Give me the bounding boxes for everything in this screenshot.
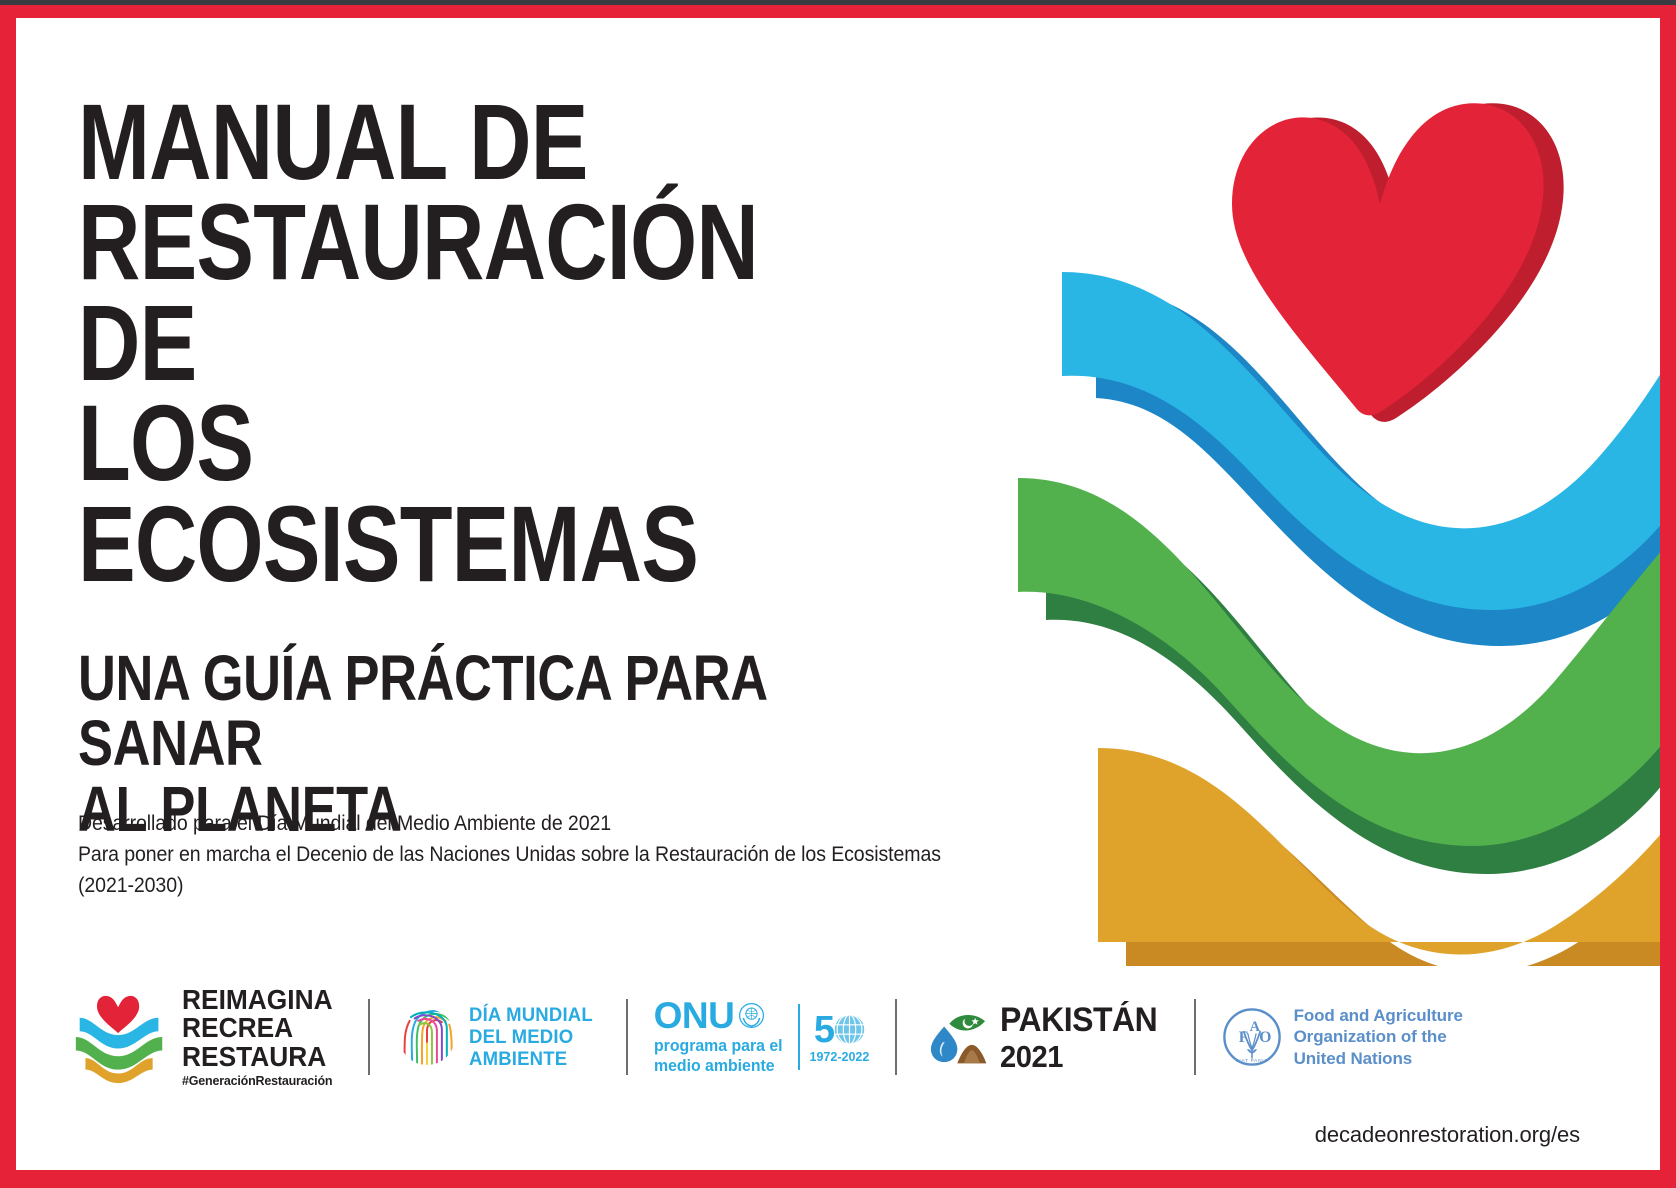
frame-border-bottom xyxy=(0,1170,1676,1188)
fao-line-2: Organization of the xyxy=(1294,1026,1463,1047)
anniversary-years: 1972-2022 xyxy=(810,1050,870,1064)
wed-line-1: DÍA MUNDIAL xyxy=(469,1004,593,1026)
frame-border-top xyxy=(0,4,1676,18)
rrr-mark-icon xyxy=(72,989,168,1085)
logo-divider-3 xyxy=(895,999,897,1075)
page-title: MANUAL DE RESTAURACIÓN DE LOS ECOSISTEMA… xyxy=(78,0,846,594)
website-url[interactable]: decadeonrestoration.org/es xyxy=(1315,1122,1580,1148)
frame-border-right xyxy=(1660,4,1676,1188)
logo-divider-2 xyxy=(626,999,628,1075)
logo-fao: F A O FIAT PANIS Food and Agriculture Or… xyxy=(1222,982,1463,1092)
page-subtitle: UNA GUÍA PRÁCTICA PARA SANAR AL PLANETA xyxy=(78,594,865,842)
logo-divider-4 xyxy=(1194,999,1196,1075)
cover-page: MANUAL DE RESTAURACIÓN DE LOS ECOSISTEMA… xyxy=(0,0,1676,1188)
unep-sub-line-1: programa para el xyxy=(654,1037,783,1057)
un-emblem-icon xyxy=(739,1003,764,1028)
rrr-line-1: REIMAGINA xyxy=(182,986,333,1015)
top-hairline xyxy=(0,0,1676,5)
rrr-hashtag: #GeneraciónRestauración xyxy=(182,1074,342,1088)
credits-block: Desarrollado para el Día Mundial del Med… xyxy=(78,808,1064,901)
pakistan-year: 2021 xyxy=(1000,1041,1157,1072)
unep-sub-line-2: medio ambiente xyxy=(654,1057,783,1077)
rrr-line-2: RECREA xyxy=(182,1014,333,1043)
fao-motto: FIAT PANIS xyxy=(1235,1058,1268,1064)
heart-icon xyxy=(1232,103,1564,422)
rrr-line-3: RESTAURA xyxy=(182,1043,333,1072)
fao-line-3: United Nations xyxy=(1294,1048,1463,1069)
wed-line-3: AMBIENTE xyxy=(469,1048,593,1070)
fingerprint-icon xyxy=(396,1006,458,1068)
unep-inner-divider xyxy=(798,1004,800,1070)
logo-divider-1 xyxy=(368,999,370,1075)
pakistan-name: PAKISTÁN xyxy=(1000,1003,1157,1037)
logo-reimagina-recrea-restaura: REIMAGINA RECREA RESTAURA #GeneraciónRes… xyxy=(72,982,342,1092)
partner-logo-bar: REIMAGINA RECREA RESTAURA #GeneraciónRes… xyxy=(72,982,1463,1092)
credit-line-3: (2021-2030) xyxy=(78,870,1064,901)
globe-icon xyxy=(834,1014,865,1045)
frame-border-left xyxy=(0,4,16,1188)
fao-emblem-icon: F A O FIAT PANIS xyxy=(1222,1007,1282,1067)
fao-line-1: Food and Agriculture xyxy=(1294,1005,1463,1026)
heart-and-waves-artwork xyxy=(976,86,1676,966)
pakistan-host-icon xyxy=(923,1004,989,1070)
cover-text-block: MANUAL DE RESTAURACIÓN DE LOS ECOSISTEMA… xyxy=(78,0,1038,842)
anniversary-number: 5 xyxy=(814,1011,835,1049)
logo-dia-mundial-medio-ambiente: DÍA MUNDIAL DEL MEDIO AMBIENTE xyxy=(396,982,599,1092)
logo-onu-medio-ambiente: ONU programa para el medio amb xyxy=(654,982,870,1092)
logo-pakistan-2021: PAKISTÁN 2021 xyxy=(923,982,1167,1092)
credit-line-2: Para poner en marcha el Decenio de las N… xyxy=(78,839,1064,870)
credit-line-1: Desarrollado para el Día Mundial del Med… xyxy=(78,808,1064,839)
unep-acronym: ONU xyxy=(654,997,735,1034)
wed-line-2: DEL MEDIO xyxy=(469,1026,593,1048)
